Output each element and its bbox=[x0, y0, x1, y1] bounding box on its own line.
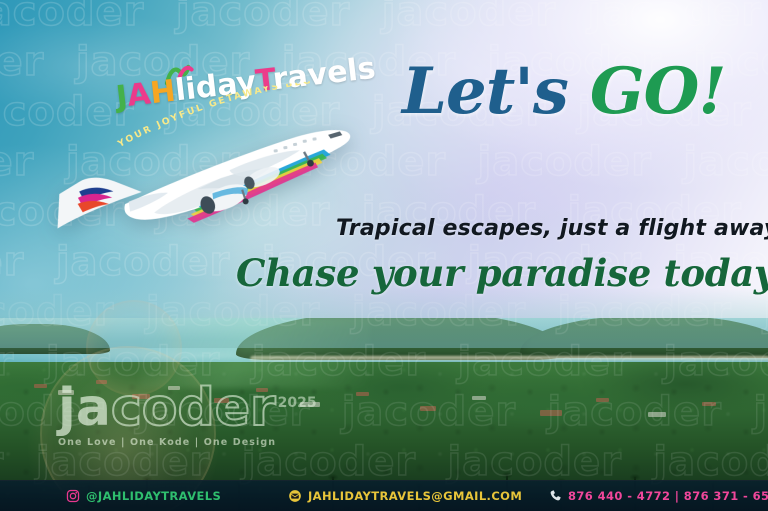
rooftop bbox=[214, 398, 229, 403]
headline-go: GO! bbox=[590, 54, 726, 129]
rooftop bbox=[256, 388, 268, 392]
email-address[interactable]: JAHLIDAYTRAVELS@GMAIL.COM bbox=[308, 489, 522, 503]
rooftop bbox=[34, 384, 47, 388]
subheadline-line-2: Chase your paradise today! bbox=[236, 255, 768, 292]
phone-numbers[interactable]: 876 440 - 4772 | 876 371 - 6559 bbox=[568, 489, 768, 503]
rooftop bbox=[58, 390, 74, 395]
rooftop bbox=[472, 396, 486, 400]
contact-footer-bar: @JAHLIDAYTRAVELS JAHLIDAYTRAVELS@GMAIL.C… bbox=[0, 480, 768, 511]
phone-icon[interactable] bbox=[548, 489, 562, 503]
rooftop bbox=[702, 402, 716, 406]
rooftop bbox=[300, 402, 320, 407]
rooftop bbox=[132, 394, 150, 399]
rooftop bbox=[596, 398, 609, 402]
rooftop bbox=[96, 380, 107, 384]
rooftop bbox=[420, 406, 436, 411]
phone-contact[interactable]: 876 440 - 4772 | 876 371 - 6559 bbox=[548, 489, 768, 503]
subheadline-line-1: Trapical escapes, just a flight away bbox=[336, 218, 768, 240]
horizon-blend bbox=[0, 288, 768, 348]
email-contact[interactable]: JAHLIDAYTRAVELS@GMAIL.COM bbox=[288, 489, 522, 503]
instagram-contact[interactable]: @JAHLIDAYTRAVELS bbox=[66, 489, 221, 503]
rooftop bbox=[356, 392, 369, 396]
instagram-handle[interactable]: @JAHLIDAYTRAVELS bbox=[86, 489, 221, 503]
rooftop bbox=[540, 410, 562, 416]
rooftop bbox=[648, 412, 666, 417]
headline-lets: Let's bbox=[402, 54, 568, 129]
email-icon[interactable] bbox=[288, 489, 302, 503]
main-headline: Let'sGO! bbox=[402, 60, 725, 124]
instagram-icon[interactable] bbox=[66, 489, 80, 503]
travel-ad-poster: jacoder jacoder jacoder jacoder jacoder … bbox=[0, 0, 768, 511]
rooftop bbox=[168, 386, 180, 390]
